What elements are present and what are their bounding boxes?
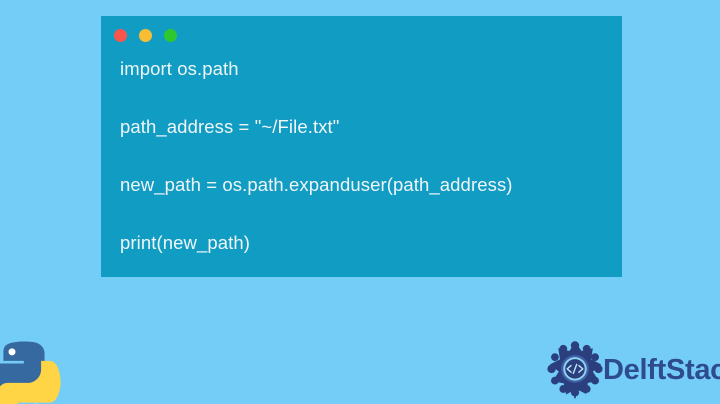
delftstack-branding: DelftStack (547, 341, 720, 399)
maximize-button-dot[interactable] (164, 29, 177, 42)
code-panel: import os.path path_address = "~/File.tx… (101, 16, 622, 277)
minimize-button-dot[interactable] (139, 29, 152, 42)
code-line: new_path = os.path.expanduser(path_addre… (120, 175, 616, 194)
code-line: path_address = "~/File.txt" (120, 117, 616, 136)
code-block: import os.path path_address = "~/File.tx… (120, 59, 616, 252)
delftstack-wordmark: DelftStack (603, 356, 720, 385)
slide-canvas: import os.path path_address = "~/File.tx… (0, 0, 720, 404)
close-button-dot[interactable] (114, 29, 127, 42)
code-line: print(new_path) (120, 233, 616, 252)
window-controls (114, 29, 177, 42)
delftstack-mandala-icon (547, 341, 603, 399)
code-line: import os.path (120, 59, 616, 78)
python-logo-icon (0, 336, 66, 404)
